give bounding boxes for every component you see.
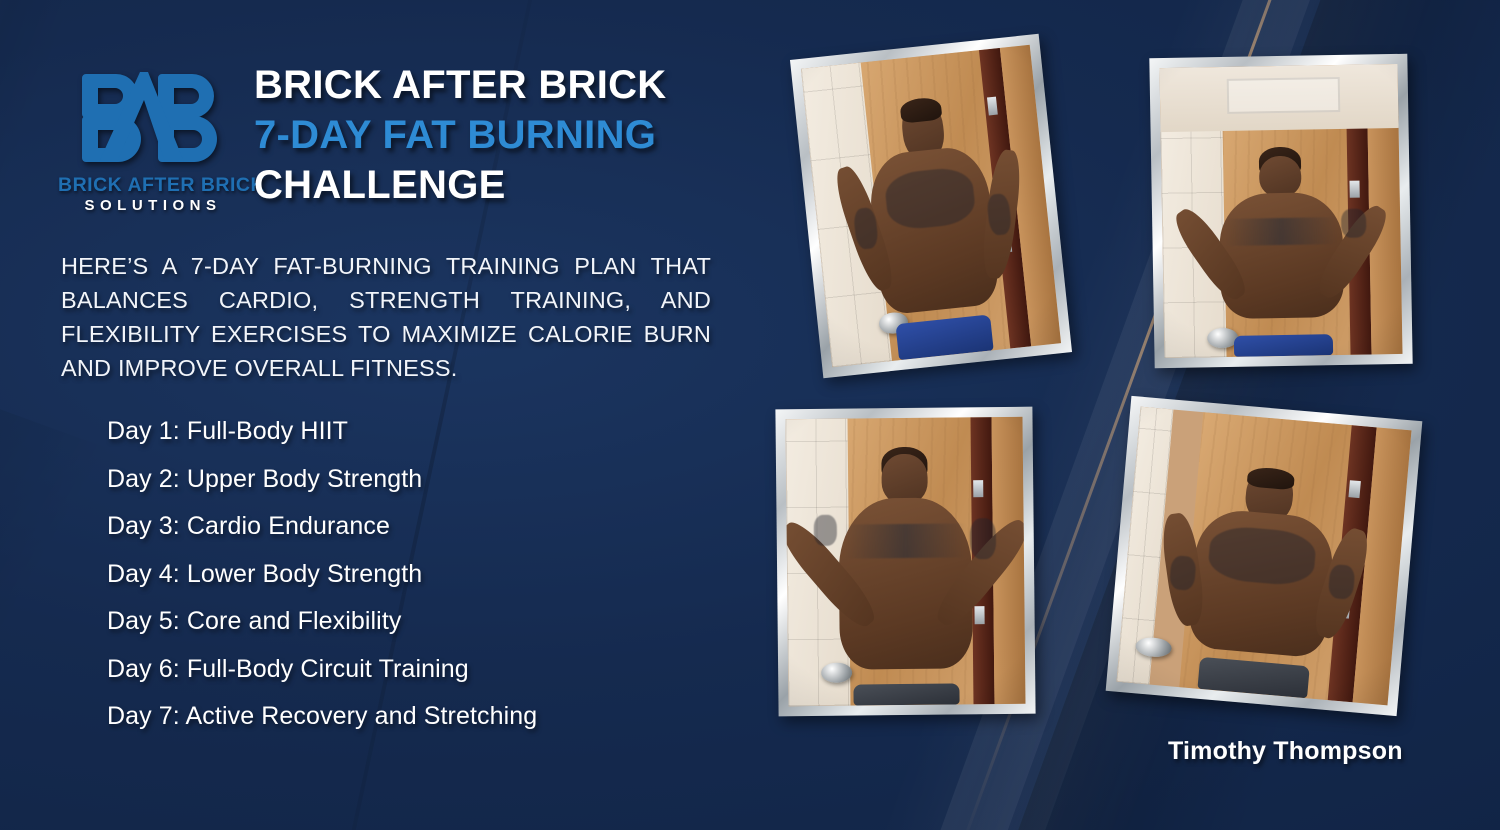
brand-name-secondary: SOLUTIONS [58, 197, 248, 214]
headline-line-2: 7-DAY FAT BURNING [254, 110, 794, 160]
list-item: Day 7: Active Recovery and Stretching [107, 693, 727, 741]
brand-name-primary: BRICK AFTER BRICK [58, 174, 248, 197]
list-item: Day 2: Upper Body Strength [107, 456, 727, 504]
list-item: Day 5: Core and Flexibility [107, 598, 727, 646]
list-item: Day 1: Full-Body HIIT [107, 408, 727, 456]
photo-back-lat-spread-upper [1149, 54, 1412, 368]
intro-paragraph: HERE’S A 7-DAY FAT-BURNING TRAINING PLAN… [61, 249, 711, 385]
author-signature: Timothy Thompson [1168, 737, 1403, 766]
headline-line-3: CHALLENGE [254, 160, 794, 210]
headline-line-1: BRICK AFTER BRICK [254, 60, 794, 110]
list-item: Day 6: Full-Body Circuit Training [107, 646, 727, 694]
day-plan-list: Day 1: Full-Body HIIT Day 2: Upper Body … [107, 408, 727, 741]
brand-logo: BRICK AFTER BRICK SOLUTIONS [58, 66, 248, 216]
list-item: Day 4: Lower Body Strength [107, 551, 727, 599]
headline-block: BRICK AFTER BRICK 7-DAY FAT BURNING CHAL… [254, 60, 794, 210]
photo-front-relaxed-grey-shorts [1106, 396, 1423, 716]
photo-front-flex-blue-shorts [790, 34, 1072, 378]
bab-monogram-icon [58, 66, 248, 176]
poster-canvas: BRICK AFTER BRICK SOLUTIONS BRICK AFTER … [0, 0, 1500, 830]
photo-back-lat-spread-lower [775, 407, 1035, 717]
list-item: Day 3: Cardio Endurance [107, 503, 727, 551]
